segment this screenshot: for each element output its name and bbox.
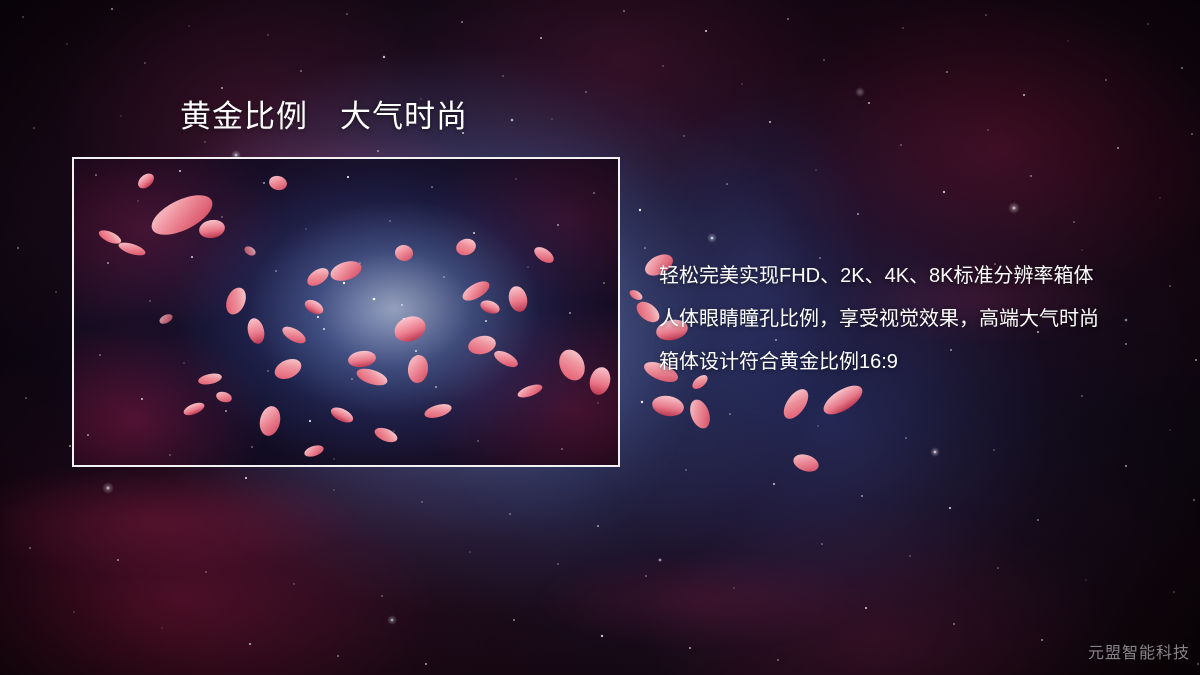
body-line: 轻松完美实现FHD、2K、4K、8K标准分辨率箱体 — [659, 255, 1179, 298]
watermark: 元盟智能科技 — [1088, 639, 1190, 663]
body-text-block: 轻松完美实现FHD、2K、4K、8K标准分辨率箱体 人体眼睛瞳孔比例，享受视觉效… — [659, 255, 1179, 384]
photo-starfield — [74, 159, 618, 465]
body-line: 人体眼睛瞳孔比例，享受视觉效果，高端大气时尚 — [659, 298, 1179, 341]
slide-canvas: 黄金比例 大气时尚 轻松完美实现FHD、2K、4K、8K标准分辨率箱体 人体眼睛… — [0, 0, 1200, 675]
body-line: 箱体设计符合黄金比例16:9 — [659, 341, 1179, 384]
image-frame — [72, 157, 620, 467]
page-title: 黄金比例 大气时尚 — [180, 101, 468, 132]
